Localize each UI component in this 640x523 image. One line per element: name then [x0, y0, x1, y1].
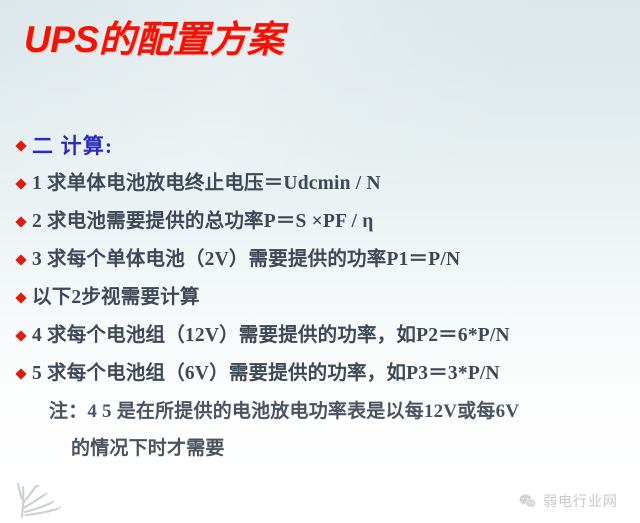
note-line-1: 注：4 5 是在所提供的电池放电功率表是以每12V或每6V: [0, 393, 640, 430]
list-item: 3 求每个单体电池（2V）需要提供的功率P1＝P/N: [0, 241, 640, 279]
list-item-label: 1 求单体电池放电终止电压＝Udcmin / N: [32, 172, 381, 196]
list-item-label: 2 求电池需要提供的总功率P＝S ×PF / η: [32, 210, 374, 234]
page-title-cjk: 的配置方案: [99, 20, 284, 61]
grass-illustration-icon: [16, 477, 76, 519]
diamond-bullet-icon: [15, 140, 26, 151]
note-line-2: 的情况下时才需要: [0, 430, 640, 467]
list-item: 二 计算:: [0, 127, 640, 165]
diamond-bullet-icon: [15, 292, 26, 303]
list-item: 2 求电池需要提供的总功率P＝S ×PF / η: [0, 203, 640, 241]
slide-canvas: UPS的配置方案 二 计算: 1 求单体电池放电终止电压＝Udcmin / N …: [0, 0, 640, 523]
diamond-bullet-icon: [15, 254, 26, 265]
note-line-1-label: 注：4 5 是在所提供的电池放电功率表是以每12V或每6V: [49, 400, 519, 424]
list-item-label: 以下2步视需要计算: [32, 286, 200, 310]
diamond-bullet-icon: [15, 368, 26, 379]
list-item: 以下2步视需要计算: [0, 279, 640, 317]
bullet-list: 二 计算: 1 求单体电池放电终止电压＝Udcmin / N 2 求电池需要提供…: [0, 127, 640, 467]
page-title-latin: UPS: [24, 19, 99, 60]
diamond-bullet-icon: [15, 216, 26, 227]
list-item-label: 4 求每个电池组（12V）需要提供的功率，如P2＝6*P/N: [32, 324, 510, 348]
list-item: 4 求每个电池组（12V）需要提供的功率，如P2＝6*P/N: [0, 317, 640, 355]
diamond-bullet-icon: [15, 178, 26, 189]
list-item-label: 3 求每个单体电池（2V）需要提供的功率P1＝P/N: [32, 248, 460, 272]
list-item: 5 求每个电池组（6V）需要提供的功率，如P3＝3*P/N: [0, 355, 640, 393]
list-item-label: 二 计算:: [32, 134, 113, 158]
diamond-bullet-icon: [15, 330, 26, 341]
page-title: UPS的配置方案: [24, 17, 284, 63]
watermark: 弱电行业网: [518, 492, 618, 511]
wechat-icon: [518, 492, 537, 511]
note-line-2-label: 的情况下时才需要: [71, 437, 225, 461]
watermark-label: 弱电行业网: [543, 494, 618, 510]
list-item-label: 5 求每个电池组（6V）需要提供的功率，如P3＝3*P/N: [32, 362, 500, 386]
list-item: 1 求单体电池放电终止电压＝Udcmin / N: [0, 165, 640, 203]
